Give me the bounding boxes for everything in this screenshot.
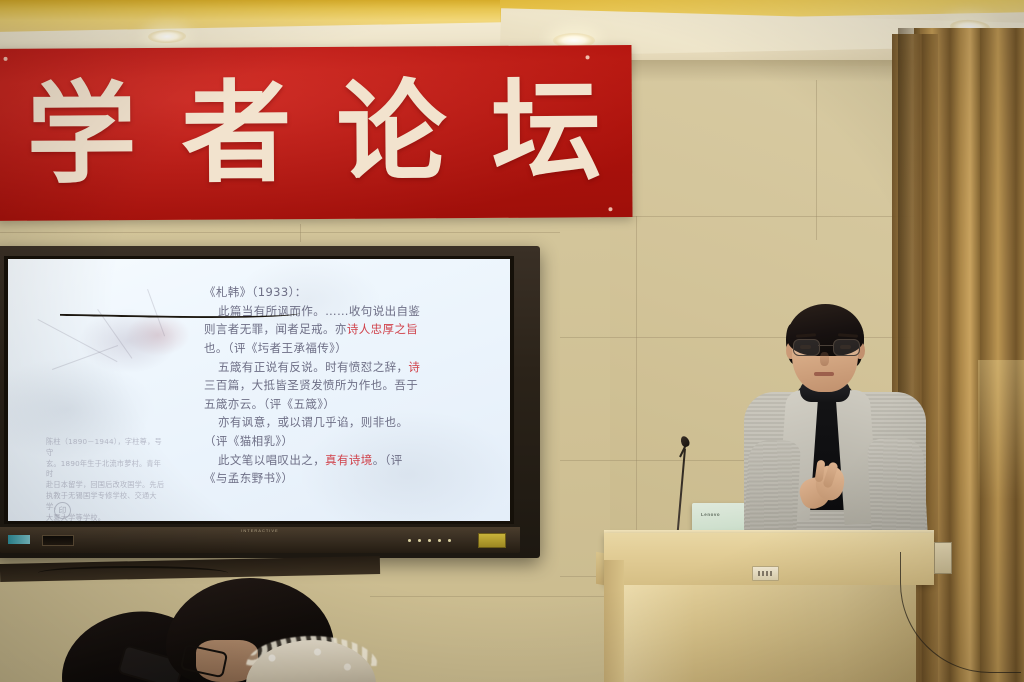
glasses-lens-right: [833, 339, 860, 356]
wall-panel-seam: [636, 216, 637, 546]
banner-char-4: 坛: [491, 76, 602, 187]
banner-char-3: 论: [336, 77, 447, 188]
slide-line: 亦有讽意，或以谓几乎谄，则非也。: [204, 413, 504, 432]
slide-plain-text: 五箴有正说有反说。时有愤怼之辞，: [218, 360, 408, 374]
slide-line: 三百篇，大抵皆圣贤发愤所为作也。吾于: [204, 376, 504, 395]
banner-pin: [586, 55, 590, 59]
speaker-figure: [730, 300, 940, 560]
slide-plain-text: 亦有讽意，或以谓几乎谄，则非也。: [218, 415, 408, 429]
projection-screen: 《札韩》（1933）： 此篇当有所讽而作。……收句说出自鉴则言者无罪，闻者足戒。…: [8, 259, 510, 521]
power-led-icon: [418, 539, 421, 542]
banner-char-1: 学: [26, 79, 137, 190]
slide-line: 五箴有正说有反说。时有愤怼之辞，诗: [204, 358, 504, 377]
slide-highlight-text: 诗: [408, 360, 420, 374]
speaker-mouth: [814, 372, 834, 376]
slide-line: （评《猫相乳》）: [204, 432, 504, 451]
wall-panel-seam: [816, 80, 817, 240]
slide-plain-text: 三百篇，大抵皆圣贤发愤所为作也。吾于: [204, 378, 418, 392]
wall-panel-seam: [300, 224, 301, 242]
power-led-icon: [428, 539, 431, 542]
wall-panel-seam: [0, 232, 560, 233]
slide-line: 也。（评《圬者王承福传》）: [204, 339, 504, 358]
slide-bio-line: 玄。1890年生于北流市萝村。青年时: [46, 459, 166, 481]
slide-line: 此文笔以唱叹出之，真有诗境。（评: [204, 451, 504, 470]
power-led-icon: [448, 539, 451, 542]
whiteboard-badge: [478, 533, 506, 548]
podium-nameplate: [752, 566, 779, 581]
slide-plain-text: 。（评: [373, 453, 403, 467]
power-led-icon: [438, 539, 441, 542]
slide-plain-text: 五箴亦云。（评《五箴》）: [204, 397, 335, 411]
event-banner: 学 者 论 坛: [0, 45, 633, 221]
slide-line: 五箴亦云。（评《五箴》）: [204, 395, 504, 414]
banner-title: 学 者 论 坛: [4, 63, 625, 203]
foreground-cable: [38, 566, 228, 580]
slide-plain-text: 此文笔以唱叹出之，: [218, 453, 325, 467]
podium-body-shading: [622, 585, 916, 682]
slide-highlight-text: 真有诗境: [325, 453, 373, 467]
slide-highlight-text: 诗人忠厚之旨: [347, 322, 418, 336]
whiteboard-control-strip[interactable]: INTERACTIVE: [0, 527, 520, 553]
slide-line: 则言者无罪，闻者足戒。亦诗人忠厚之旨: [204, 320, 504, 339]
slide-seal-icon: 印: [54, 502, 71, 519]
whiteboard-brand-label: INTERACTIVE: [241, 528, 278, 533]
whiteboard-port-slot[interactable]: [42, 535, 74, 546]
podium-side-panel: [604, 560, 624, 682]
slide-plain-text: 则言者无罪，闻者足戒。亦: [204, 322, 347, 336]
glasses-lens-left: [793, 339, 820, 356]
speaker-nose: [820, 352, 829, 366]
wall-panel-seam: [370, 596, 630, 597]
laptop-brand-label: Lenovo: [701, 512, 720, 517]
slide-bio-line: 陈柱（1890－1944），字柱尊，号守: [46, 437, 166, 459]
power-led-icon: [408, 539, 411, 542]
interactive-whiteboard[interactable]: 《札韩》（1933）： 此篇当有所讽而作。……收句说出自鉴则言者无罪，闻者足戒。…: [0, 246, 540, 558]
slide-plain-text: （评《猫相乳》）: [204, 434, 293, 448]
slide-line: 《与孟东野书》）: [204, 469, 504, 488]
slide-lines-container: 此篇当有所讽而作。……收句说出自鉴则言者无罪，闻者足戒。亦诗人忠厚之旨也。（评《…: [204, 302, 504, 488]
window-curtain-highlight: [978, 360, 1024, 500]
banner-char-2: 者: [181, 78, 292, 189]
lecture-hall-photo: 学 者 论 坛 《札韩》（1933）： 此篇当有所讽而作。……收句说出自鉴则言者…: [0, 0, 1024, 682]
slide-plain-text: 《与孟东野书》）: [204, 471, 293, 485]
slide-title-line: 《札韩》（1933）：: [204, 283, 504, 302]
glasses-bridge: [818, 345, 833, 346]
banner-pin: [4, 57, 8, 61]
slide-plain-text: 也。（评《圬者王承福传》）: [204, 341, 347, 355]
whiteboard-indicator-icon: [8, 535, 30, 544]
slide-bio-line: 赴日本留学，回国后改攻国学。先后: [46, 480, 166, 491]
banner-pin: [608, 207, 612, 211]
